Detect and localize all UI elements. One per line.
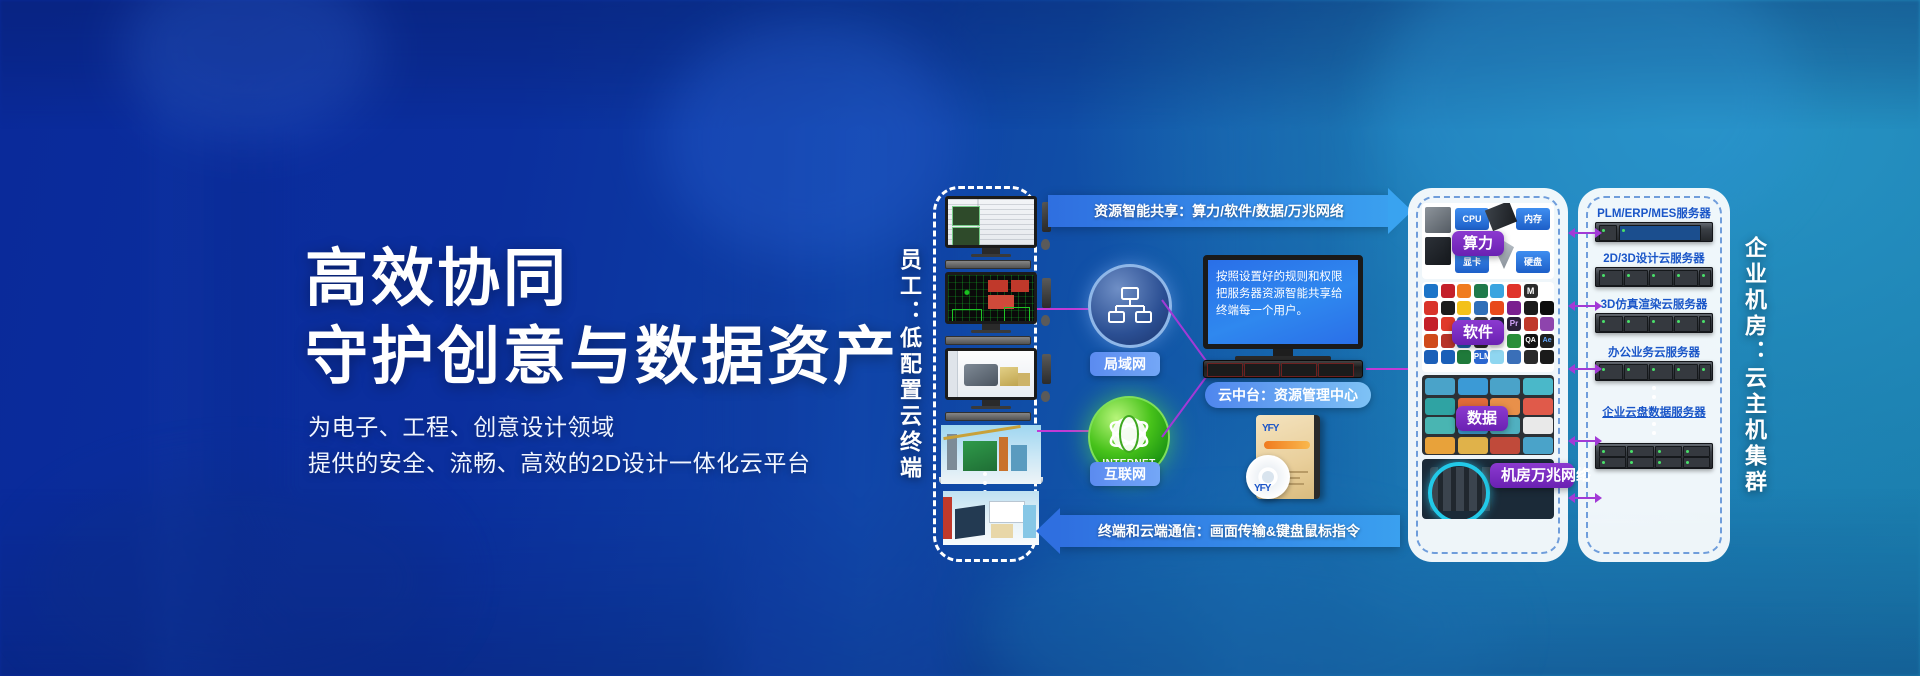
- connector-res-srv-5: [1574, 497, 1596, 499]
- connector-res-srv-3: [1574, 368, 1596, 370]
- connector-res-srv-1: [1574, 232, 1596, 234]
- terminal-desktop-pcb[interactable]: [945, 196, 1037, 269]
- server-label-2d3d-design: 2D/3D设计云服务器: [1586, 250, 1722, 266]
- arrow-terminal-cloud-comm: 终端和云端通信：画面传输&键盘鼠标指令: [1058, 515, 1400, 547]
- monitor-line-1: 按照设置好的规则和权限: [1216, 269, 1350, 286]
- server-label-office: 办公业务云服务器: [1586, 344, 1722, 360]
- blob-4: [30, 470, 450, 676]
- terminal-mouse: [1041, 391, 1050, 402]
- connector-res-srv-2: [1574, 305, 1596, 307]
- subtitle-line-2: 提供的安全、流畅、高效的2D设计一体化云平台: [308, 445, 811, 481]
- terminal-keyboard: [945, 336, 1031, 345]
- arrow-head-left-icon: [1036, 508, 1060, 554]
- connector-cloud-out: [1366, 368, 1408, 370]
- ellipsis-dots-servers-2: [1652, 422, 1656, 440]
- network-ring-icon: [1428, 462, 1490, 519]
- software-brand-cd: YFY: [1254, 483, 1270, 494]
- software-package-box: YFY YFY: [1246, 415, 1320, 499]
- monitor-line-2: 把服务器资源智能共享给: [1216, 286, 1350, 303]
- terminal-laptop-plant[interactable]: [941, 425, 1041, 484]
- subtitle-line-1: 为电子、工程、创意设计领域: [308, 409, 811, 445]
- terminal-desktop-3d[interactable]: [945, 348, 1037, 421]
- terminal-keyboard: [945, 260, 1031, 269]
- badge-software: 软件: [1452, 320, 1504, 345]
- banner-root: 高效协同 守护创意与数据资产 为电子、工程、创意设计领域 提供的安全、流畅、高效…: [0, 0, 1920, 676]
- terminal-mouse: [1041, 239, 1050, 250]
- cloud-management-monitor: 按照设置好的规则和权限 把服务器资源智能共享给 终端每一个用户。: [1203, 255, 1363, 361]
- blob-2: [660, 20, 960, 260]
- arrow-top-label: 资源智能共享：算力/软件/数据/万兆网络: [1048, 195, 1390, 227]
- terminal-screen: [945, 348, 1037, 400]
- badge-compute: 算力: [1452, 231, 1504, 256]
- terminal-screen: [945, 425, 1037, 477]
- internet-caption: 互联网: [1090, 462, 1160, 486]
- arrow-resource-sharing: 资源智能共享：算力/软件/数据/万兆网络: [1048, 195, 1390, 227]
- terminal-speaker: [1042, 354, 1051, 384]
- badge-network: 机房万兆网络: [1490, 463, 1574, 488]
- monitor-line-3: 终端每一个用户。: [1216, 303, 1350, 320]
- label-enterprise-server-room: 企业机房：云主机集群: [1738, 236, 1770, 496]
- server-label-3d-render: 3D仿真渲染云服务器: [1586, 296, 1722, 312]
- cloud-rack-server: [1203, 360, 1363, 378]
- server-label-cloud-disk: 企业云盘数据服务器: [1586, 404, 1722, 420]
- server-unit-2d3d-design: [1595, 267, 1713, 287]
- badge-data: 数据: [1456, 406, 1508, 431]
- arrow-bottom-label: 终端和云端通信：画面传输&键盘鼠标指令: [1058, 515, 1400, 547]
- server-unit-office: [1595, 361, 1713, 381]
- terminal-desktop-cad[interactable]: [945, 272, 1037, 345]
- server-label-plm-erp-mes: PLM/ERP/MES服务器: [1586, 205, 1722, 221]
- monitor-screen: 按照设置好的规则和权限 把服务器资源智能共享给 终端每一个用户。: [1203, 255, 1363, 349]
- terminal-screen: [945, 272, 1037, 324]
- server-unit-cloud-disk: [1595, 443, 1713, 469]
- cloud-center-pill: 云中台：资源管理中心: [1205, 382, 1371, 408]
- terminal-screen: [943, 491, 1039, 545]
- terminal-mouse: [1041, 315, 1050, 326]
- page-title: 高效协同 守护创意与数据资产: [305, 240, 925, 396]
- software-brand-front: YFY: [1262, 423, 1278, 434]
- terminal-speaker: [1042, 278, 1051, 308]
- server-unit-plm-erp-mes: [1595, 222, 1713, 242]
- terminal-screen: [945, 196, 1037, 248]
- terminal-tv-interior[interactable]: [943, 491, 1039, 545]
- terminal-keyboard: [945, 412, 1031, 421]
- connector-res-srv-4: [1574, 440, 1596, 442]
- title-line-2: 守护创意与数据资产: [305, 318, 925, 396]
- title-line-1: 高效协同: [305, 240, 925, 318]
- software-cd-disc: YFY: [1246, 455, 1290, 499]
- label-employee-thin-client: 员工：低配置云终端: [893, 248, 925, 482]
- server-unit-3d-render: [1595, 313, 1713, 333]
- blob-1: [120, 0, 380, 140]
- ellipsis-dots-servers-1: [1652, 386, 1656, 404]
- network-lan-icon: [1107, 286, 1153, 326]
- page-subtitle: 为电子、工程、创意设计领域 提供的安全、流畅、高效的2D设计一体化云平台: [308, 409, 811, 481]
